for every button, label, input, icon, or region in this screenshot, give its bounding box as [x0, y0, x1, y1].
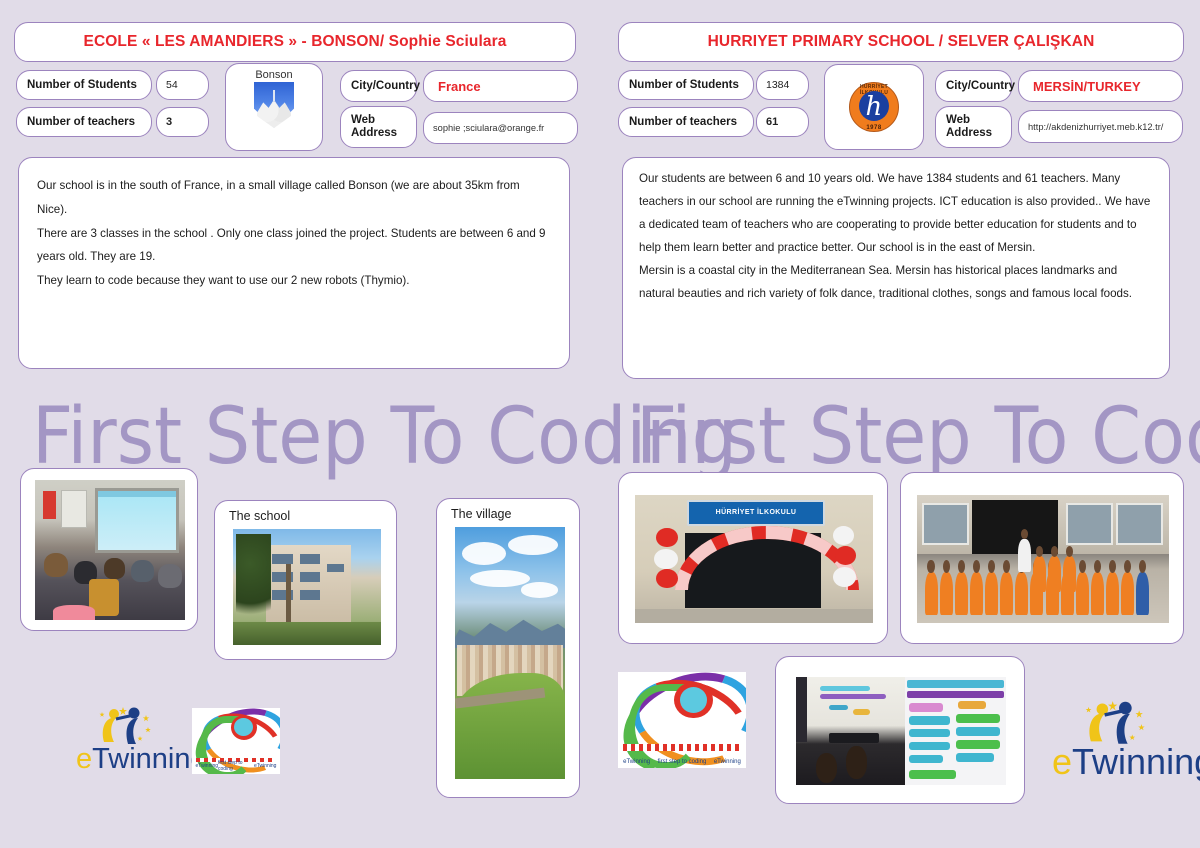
right-teachers-label: Number of teachers [618, 107, 754, 137]
right-web-label-line2: Address [946, 127, 992, 140]
right-photo-card-coding[interactable] [775, 656, 1025, 804]
students-coding-photo [796, 677, 1006, 785]
left-etwinning-logo: eTwinning [76, 706, 168, 774]
right-title-bar: HURRIYET PRIMARY SCHOOL / SELVER ÇALIŞKA… [618, 22, 1184, 62]
students-group-photo [917, 495, 1169, 623]
left-photo-caption-village: The village [451, 507, 511, 521]
etwinning-figures-icon [1078, 700, 1152, 746]
proj-cap-mid: first step to coding [218, 760, 254, 772]
right-web-address-value-text: http://akdenizhurriyet.meb.k12.tr/ [1028, 122, 1163, 132]
right-desc-para-1: Our students are between 6 and 10 years … [639, 168, 1153, 260]
right-city-country-value-text: MERSİN/TURKEY [1033, 79, 1141, 94]
left-city-country-value[interactable]: France [423, 70, 578, 102]
right-city-country-label: City/Country [935, 70, 1012, 102]
right-students-value[interactable]: 1384 [756, 70, 809, 100]
proj-cap-left: eTwinning [196, 763, 219, 769]
left-project-logo: eTwinning first step to coding eTwinning [192, 708, 280, 774]
right-city-country-label-text: City/Country [946, 80, 1015, 93]
proj-cap-right: eTwinning [254, 763, 277, 769]
left-students-label-text: Number of Students [27, 79, 137, 92]
right-web-address-label: Web Address [935, 106, 1012, 148]
left-title-bar: ECOLE « LES AMANDIERS » - BONSON/ Sophie… [14, 22, 576, 62]
left-students-value-text: 54 [166, 79, 178, 91]
right-school-title: HURRIYET PRIMARY SCHOOL / SELVER ÇALIŞKA… [708, 33, 1095, 51]
right-students-label: Number of Students [618, 70, 754, 100]
left-city-country-label: City/Country [340, 70, 417, 102]
left-teachers-label: Number of teachers [16, 107, 152, 137]
school-entrance-photo: HÜRRİYET İLKOKULU [635, 495, 873, 623]
etwinning-wordmark: eTwinning [1052, 744, 1200, 780]
left-crest-card: Bonson [225, 63, 323, 151]
bonson-coat-of-arms-icon [254, 82, 294, 128]
left-desc-para-3: They learn to code because they want to … [37, 269, 551, 293]
right-wordart-title: First Step To Coding [636, 398, 1200, 476]
left-teachers-label-text: Number of teachers [27, 116, 135, 129]
classroom-photo [35, 480, 185, 620]
etwinning-twinning: Twinning [1072, 741, 1200, 782]
right-project-logo: eTwinning first step to coding eTwinning [618, 672, 746, 768]
right-web-address-value[interactable]: http://akdenizhurriyet.meb.k12.tr/ [1018, 110, 1183, 143]
r-proj-cap-left: eTwinning [623, 759, 650, 765]
logo-year: 1978 [849, 125, 899, 131]
r-proj-cap-mid: first step to coding [658, 759, 707, 765]
etwinning-twinning: Twinning [92, 743, 206, 775]
left-photo-card-village[interactable]: The village [436, 498, 580, 798]
right-photo-card-group[interactable] [900, 472, 1184, 644]
right-etwinning-logo: eTwinning [1052, 700, 1172, 780]
left-photo-card-school[interactable]: The school [214, 500, 397, 660]
left-web-address-value[interactable]: sophie ;sciulara@orange.fr [423, 112, 578, 144]
right-web-label-line1: Web [946, 114, 970, 127]
left-description-card: Our school is in the south of France, in… [18, 157, 570, 369]
right-students-label-text: Number of Students [629, 79, 739, 92]
left-desc-para-1: Our school is in the south of France, in… [37, 174, 551, 222]
etwinning-e: e [76, 743, 92, 775]
r-proj-cap-right: eTwinning [714, 759, 741, 765]
etwinning-wordmark: eTwinning [76, 745, 207, 774]
left-city-country-value-text: France [438, 79, 481, 94]
left-school-title: ECOLE « LES AMANDIERS » - BONSON/ Sophie… [84, 33, 507, 51]
right-description-card: Our students are between 6 and 10 years … [622, 157, 1170, 379]
right-school-panel: HURRIYET PRIMARY SCHOOL / SELVER ÇALIŞKA… [600, 0, 1200, 848]
left-students-value[interactable]: 54 [156, 70, 209, 100]
right-teachers-label-text: Number of teachers [629, 116, 737, 129]
left-photo-caption-school: The school [229, 509, 290, 523]
right-crest-card: HÜRRİYET İLKOKULU h 1978 [824, 64, 924, 150]
school-building-photo [233, 529, 381, 645]
left-project-logo-caption: eTwinning first step to coding eTwinning [196, 760, 277, 772]
left-web-label-line1: Web [351, 114, 375, 127]
right-project-logo-caption: eTwinning first step to coding eTwinning [623, 759, 741, 765]
right-desc-para-2: Mersin is a coastal city in the Mediterr… [639, 260, 1153, 306]
right-photo-card-entrance[interactable]: HÜRRİYET İLKOKULU [618, 472, 888, 644]
etwinning-figures-icon [94, 706, 156, 746]
left-students-label: Number of Students [16, 70, 152, 100]
hurriyet-ilkokulu-logo-icon: HÜRRİYET İLKOKULU h 1978 [849, 82, 899, 132]
right-students-value-text: 1384 [766, 79, 789, 91]
left-teachers-value[interactable]: 3 [156, 107, 209, 137]
crest-place-name: Bonson [255, 69, 292, 81]
right-city-country-value[interactable]: MERSİN/TURKEY [1018, 70, 1183, 102]
village-photo [455, 527, 565, 779]
right-teachers-value[interactable]: 61 [756, 107, 809, 137]
right-teachers-value-text: 61 [766, 116, 778, 128]
left-web-label-line2: Address [351, 127, 397, 140]
left-web-address-value-text: sophie ;sciulara@orange.fr [433, 123, 544, 133]
etwinning-e: e [1052, 741, 1072, 782]
left-web-address-label: Web Address [340, 106, 417, 148]
left-city-country-label-text: City/Country [351, 80, 420, 93]
left-teachers-value-text: 3 [166, 116, 172, 128]
entrance-sign-text: HÜRRİYET İLKOKULU [716, 509, 797, 516]
left-photo-card-classroom[interactable] [20, 468, 198, 631]
left-school-panel: ECOLE « LES AMANDIERS » - BONSON/ Sophie… [0, 0, 600, 848]
left-desc-para-2: There are 3 classes in the school . Only… [37, 222, 551, 270]
